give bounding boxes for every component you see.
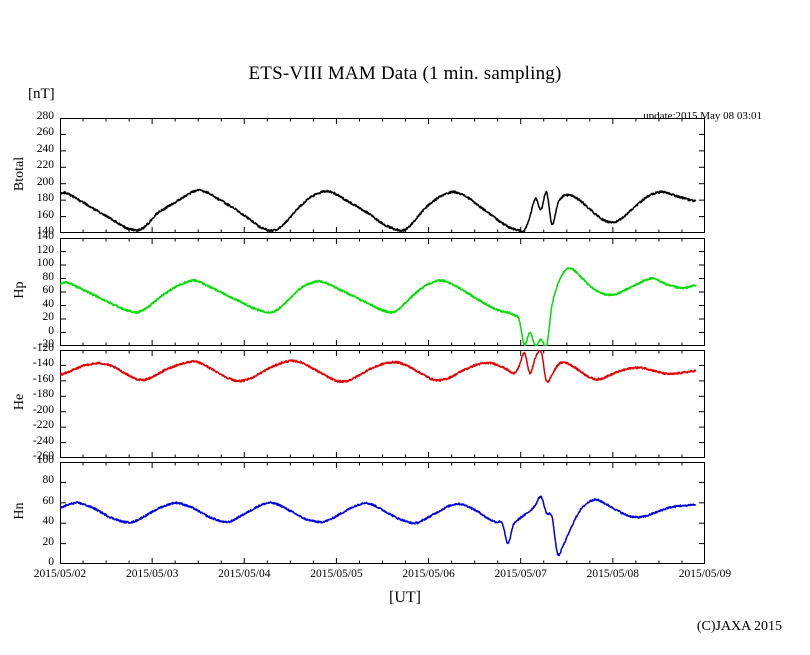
data-line-he (60, 350, 696, 382)
y-tick-hp-1: 0 (8, 325, 54, 337)
panel-ticks-hp (60, 238, 705, 346)
x-tick-label-5: 2015/05/07 (476, 568, 566, 580)
y-tick-btotal-7: 280 (8, 110, 54, 122)
copyright-label: (C)JAXA 2015 (697, 619, 782, 635)
plot-panel-he (60, 350, 705, 458)
y-tick-hp-7: 120 (8, 244, 54, 256)
data-line-hp (60, 268, 696, 346)
trace-hp (60, 238, 705, 346)
trace-he (60, 350, 705, 458)
x-tick-label-1: 2015/05/03 (107, 568, 197, 580)
y-tick-he-7: -120 (8, 342, 54, 354)
y-axis-label-he: He (12, 382, 28, 422)
plot-panel-btotal (60, 118, 705, 233)
x-tick-label-3: 2015/05/05 (291, 568, 381, 580)
y-tick-hp-8: 140 (8, 230, 54, 242)
panel-ticks-hn (60, 462, 705, 564)
plot-panel-hp (60, 238, 705, 346)
x-tick-label-0: 2015/05/02 (15, 568, 105, 580)
plot-panel-hn (60, 462, 705, 564)
y-tick-btotal-6: 260 (8, 126, 54, 138)
x-tick-label-7: 2015/05/09 (660, 568, 750, 580)
trace-hn (60, 462, 705, 564)
y-unit-label: [nT] (28, 86, 55, 103)
y-tick-hp-6: 100 (8, 257, 54, 269)
x-axis-title: [UT] (0, 589, 810, 607)
trace-btotal (60, 118, 705, 233)
y-tick-btotal-1: 160 (8, 209, 54, 221)
y-axis-label-hn: Hn (12, 491, 28, 531)
data-line-btotal (60, 189, 696, 232)
plot-page: ETS-VIII MAM Data (1 min. sampling) [nT]… (0, 0, 810, 655)
data-line-hn (60, 496, 696, 555)
y-tick-hn-4: 80 (8, 474, 54, 486)
panel-ticks-he (60, 350, 705, 458)
y-tick-hn-0: 0 (8, 556, 54, 568)
y-tick-hn-1: 20 (8, 536, 54, 548)
y-axis-label-hp: Hp (12, 270, 28, 310)
x-tick-label-6: 2015/05/08 (568, 568, 658, 580)
y-tick-he-6: -140 (8, 357, 54, 369)
panel-ticks-btotal (60, 118, 705, 233)
y-tick-hp-2: 20 (8, 311, 54, 323)
page-title: ETS-VIII MAM Data (1 min. sampling) (0, 63, 810, 85)
x-tick-label-4: 2015/05/06 (384, 568, 474, 580)
x-tick-label-2: 2015/05/04 (199, 568, 289, 580)
y-axis-label-btotal: Btotal (12, 154, 28, 194)
y-tick-he-1: -240 (8, 435, 54, 447)
y-tick-hn-5: 100 (8, 454, 54, 466)
